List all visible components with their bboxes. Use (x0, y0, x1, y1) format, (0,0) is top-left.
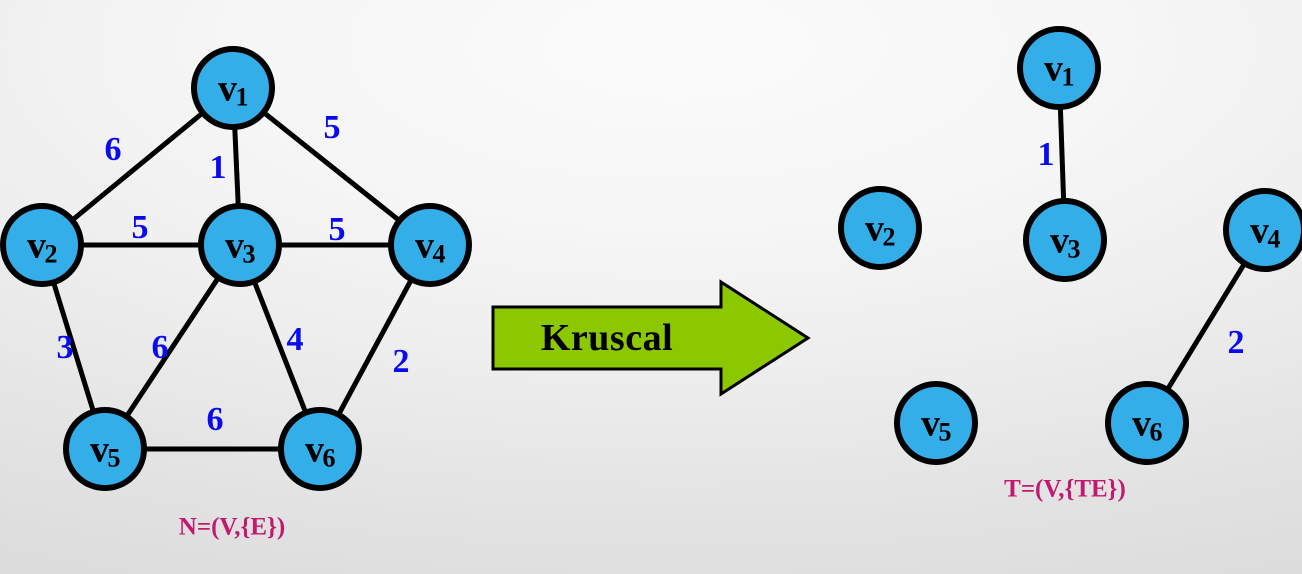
left-graph-caption: N=(V,{E}) (179, 515, 285, 540)
node-index: 4 (433, 240, 446, 269)
node-letter: v (1132, 403, 1151, 445)
graph-node-label-v5: v5 (921, 405, 951, 446)
graph-node-label-v1: v1 (218, 70, 248, 111)
node-letter: v (225, 225, 244, 267)
graph-node-label-v5: v5 (90, 431, 120, 472)
node-letter: v (1050, 220, 1069, 262)
node-letter: v (305, 429, 324, 471)
edge-weight-v4-v6: 2 (393, 345, 410, 379)
node-letter: v (1250, 210, 1269, 252)
edge-weight-v5-v6: 6 (207, 403, 224, 437)
edge-weight-v3-v6: 4 (287, 323, 304, 357)
graph-node-label-v1: v1 (1044, 50, 1074, 91)
kruskal-arrow-label: Kruscal (491, 279, 723, 397)
edge-weight-v3-v5: 6 (152, 331, 169, 365)
edge-weight-v4-v6: 2 (1228, 326, 1245, 360)
node-index: 6 (323, 444, 336, 473)
edge-weight-v3-v4: 5 (329, 213, 346, 247)
edge-weight-v1-v3: 1 (1038, 138, 1055, 172)
node-letter: v (90, 429, 109, 471)
graph-node-label-v4: v4 (1250, 212, 1280, 253)
node-index: 2 (883, 223, 896, 252)
right-graph-caption: T=(V,{TE}) (1004, 477, 1126, 502)
node-index: 3 (1068, 235, 1081, 264)
diagram-canvas: v1v2v3v4v5v66155536426N=(V,{E})v1v2v3v4v… (0, 0, 1302, 574)
graph-edge-v3-v5 (126, 277, 219, 418)
node-letter: v (415, 225, 434, 267)
edge-weight-v1-v3: 1 (210, 151, 227, 185)
graph-node-label-v2: v2 (865, 210, 895, 251)
node-letter: v (921, 403, 940, 445)
node-index: 1 (236, 83, 249, 112)
node-index: 1 (1062, 63, 1075, 92)
node-letter: v (1044, 48, 1063, 90)
node-letter: v (865, 208, 884, 250)
node-letter: v (218, 68, 237, 110)
graph-node-label-v4: v4 (415, 227, 445, 268)
node-index: 4 (1268, 225, 1281, 254)
graph-node-label-v3: v3 (1050, 222, 1080, 263)
edge-weight-v1-v4: 5 (324, 111, 341, 145)
node-index: 5 (108, 444, 121, 473)
graph-node-label-v2: v2 (27, 227, 57, 268)
edge-weight-v1-v2: 6 (105, 133, 122, 167)
graph-node-label-v3: v3 (225, 227, 255, 268)
graph-node-label-v6: v6 (1132, 405, 1162, 446)
edge-weight-v2-v5: 3 (57, 331, 74, 365)
node-index: 3 (243, 240, 256, 269)
node-index: 2 (45, 240, 58, 269)
graph-edge-v1-v3 (235, 126, 239, 207)
graph-edge-v1-v2 (71, 112, 203, 221)
node-letter: v (27, 225, 46, 267)
graph-edge-v1-v3 (1060, 106, 1063, 202)
graph-node-label-v6: v6 (305, 431, 335, 472)
edge-weight-v2-v3: 5 (132, 211, 149, 245)
node-index: 5 (939, 418, 952, 447)
kruskal-arrow: Kruscal (491, 279, 811, 397)
node-index: 6 (1150, 418, 1163, 447)
